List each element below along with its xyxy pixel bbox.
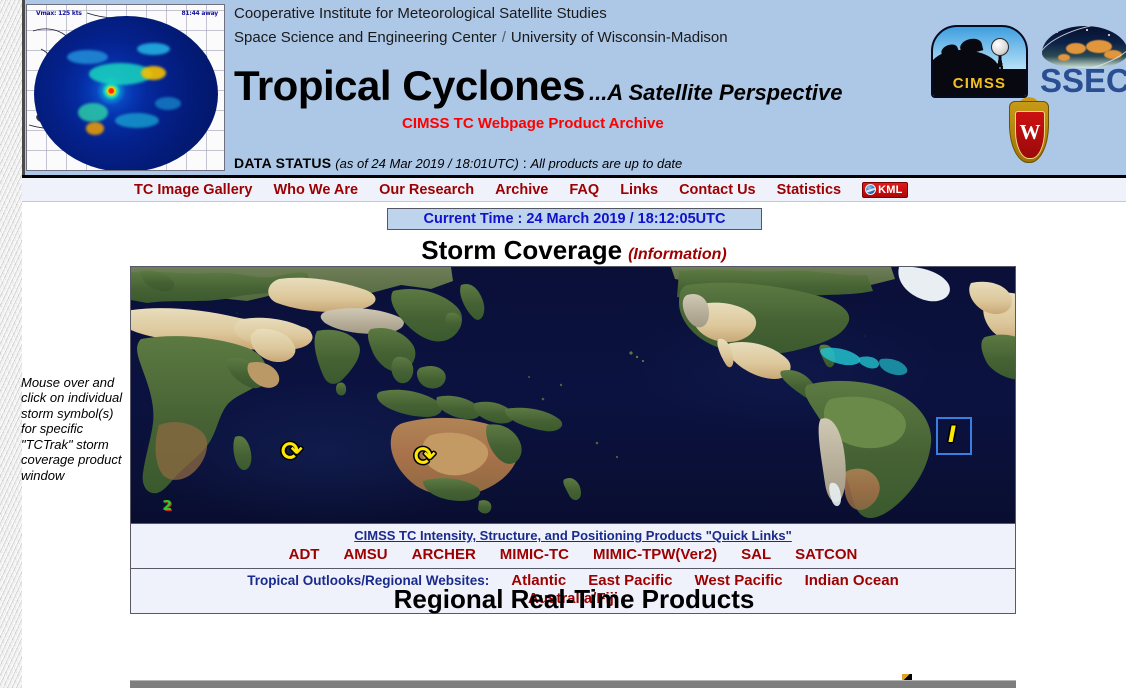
affiliation-line-1: Cooperative Institute for Meteorological… [234,5,607,22]
quick-links-heading-link[interactable]: CIMSS TC Intensity, Structure, and Posit… [354,528,792,543]
quicklink-mimic-tpw-ver2[interactable]: MIMIC-TPW(Ver2) [593,546,717,563]
nav-links[interactable]: Links [620,182,658,198]
quicklink-adt[interactable]: ADT [289,546,320,563]
quick-links-items: ADT AMSU ARCHER MIMIC-TC MIMIC-TPW(Ver2)… [131,546,1015,563]
navigation-links: TC Image Gallery Who We Are Our Research… [134,178,908,201]
data-status-message: All products are up to date [531,156,683,171]
data-status-line: DATA STATUS (as of 24 Mar 2019 / 18:01UT… [234,155,682,171]
storm-symbol-south-atlantic[interactable]: I [936,417,972,455]
nav-who-we-are[interactable]: Who We Are [273,182,358,198]
cimss-logo-dome: CIMSS [931,25,1028,98]
uw-crest-inner-shield: W [1015,111,1045,159]
globe-icon [865,184,876,195]
map-basin-count-label: 2 [163,499,172,514]
affiliation-ssec: Space Science and Engineering Center [234,29,497,46]
storm-symbol-south-indian-ocean[interactable]: ⟳ [281,439,303,465]
uw-madison-crest-logo[interactable]: W [1007,95,1051,169]
regional-products-heading: Regional Real-Time Products [22,584,1126,615]
cimss-logo-label: CIMSS [933,75,1026,92]
global-storm-coverage-map[interactable]: ⟳ ⟳ I 2 [131,267,1015,524]
regional-products-table-top-bar [130,680,1016,688]
nav-contact-us[interactable]: Contact Us [679,182,756,198]
cimss-logo-radome-tower [987,40,1013,70]
header-logos: CIMSS SSEC [910,0,1126,175]
quick-links-row: CIMSS TC Intensity, Structure, and Posit… [131,524,1015,569]
nav-tc-image-gallery[interactable]: TC Image Gallery [134,182,252,198]
data-status-colon: : [523,155,527,171]
product-archive-subtitle: CIMSS TC Webpage Product Archive [402,115,664,132]
main-navigation-bar: TC Image Gallery Who We Are Our Research… [22,178,1126,202]
header-left-border [22,0,25,175]
storm-intensity-icon: I [948,425,956,447]
uw-crest-shield: W [1009,101,1049,163]
current-time-text: Current Time : 24 March 2019 / 18:12:05U… [424,211,726,227]
storm-symbol-northwest-australia[interactable]: ⟳ [414,444,436,470]
cyclone-icon: ⟳ [414,442,436,472]
data-status-timestamp: (as of 24 Mar 2019 / 18:01UTC) [335,156,519,171]
kml-download-button[interactable]: KML [862,182,907,198]
storm-symbol-instructions: Mouse over and click on individual storm… [21,375,127,483]
quicklink-sal[interactable]: SAL [741,546,771,563]
ssec-logo[interactable]: SSEC [1040,24,1126,96]
storm-coverage-title: Storm Coverage [421,235,622,265]
page-title: Tropical Cyclones...A Satellite Perspect… [234,62,843,110]
thumbnail-time-label: 81:44 away [181,10,218,17]
current-time-banner: Current Time : 24 March 2019 / 18:12:05U… [387,208,762,230]
cimss-logo-radome-sphere [991,38,1009,56]
quicklink-satcon[interactable]: SATCON [795,546,857,563]
cimss-logo-mast-large [970,52,973,70]
header-text-block: Cooperative Institute for Meteorological… [230,0,910,175]
quicklink-mimic-tc[interactable]: MIMIC-TC [500,546,569,563]
data-status-label: DATA STATUS [234,155,331,171]
map-texture-overlay [131,267,1015,523]
affiliation-line-2: Space Science and Engineering Center/Uni… [234,29,728,46]
nav-statistics[interactable]: Statistics [777,182,841,198]
thumbnail-microwave-disk [34,16,218,171]
affiliation-separator: / [497,29,511,46]
site-header: Vmax: 125 kts 81:44 away Cooperative Ins… [22,0,1126,178]
nav-archive[interactable]: Archive [495,182,548,198]
page-title-main: Tropical Cyclones [234,62,585,109]
uw-crest-letter: W [1016,122,1044,143]
cimss-logo-mast-small [948,54,951,70]
storm-coverage-information-link[interactable]: (Information) [622,246,727,263]
nav-our-research[interactable]: Our Research [379,182,474,198]
main-content: Current Time : 24 March 2019 / 18:12:05U… [22,202,1126,688]
nav-faq[interactable]: FAQ [569,182,599,198]
cyclone-icon: ⟳ [281,437,303,467]
cimss-logo[interactable]: CIMSS [931,25,1028,98]
regional-products-corner-marker [902,674,912,680]
affiliation-university: University of Wisconsin-Madison [511,29,728,46]
microwave-tc-thumbnail[interactable]: Vmax: 125 kts 81:44 away [26,4,225,171]
thumbnail-vmax-label: Vmax: 125 kts [36,10,82,17]
quicklink-archer[interactable]: ARCHER [412,546,476,563]
quicklink-amsu[interactable]: AMSU [343,546,387,563]
page-title-subtitle: ...A Satellite Perspective [585,80,843,105]
ssec-logo-label: SSEC [1040,62,1126,96]
page-container: Vmax: 125 kts 81:44 away Cooperative Ins… [22,0,1126,688]
thumbnail-canvas: Vmax: 125 kts 81:44 away [27,5,224,170]
kml-label: KML [878,184,902,196]
storm-coverage-panel: ⟳ ⟳ I 2 CIMSS TC Intensity, Structure, a… [130,266,1016,614]
storm-coverage-heading: Storm Coverage(Information) [22,235,1126,266]
